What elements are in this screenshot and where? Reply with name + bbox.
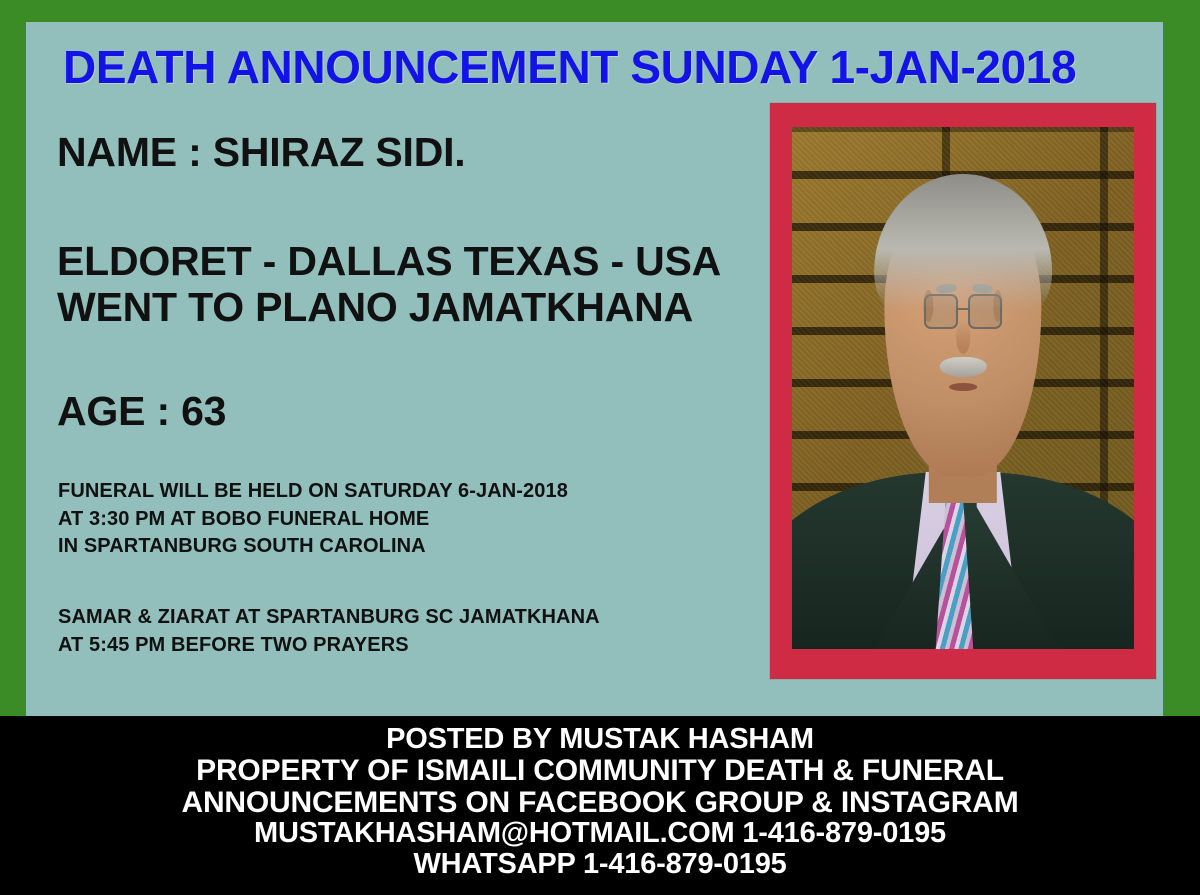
portrait-figure [792, 127, 1134, 649]
mouth [949, 383, 977, 391]
announcement-card: DEATH ANNOUNCEMENT SUNDAY 1-JAN-2018 NAM… [26, 22, 1163, 716]
page-title: DEATH ANNOUNCEMENT SUNDAY 1-JAN-2018 [63, 43, 1153, 91]
deceased-name-line: NAME : SHIRAZ SIDI. [57, 132, 465, 173]
jamatkhana-line: WENT TO PLANO JAMATKHANA [57, 287, 693, 328]
funeral-details-block: FUNERAL WILL BE HELD ON SATURDAY 6-JAN-2… [58, 478, 568, 561]
footer-property-line: PROPERTY OF ISMAILI COMMUNITY DEATH & FU… [0, 755, 1200, 787]
portrait-red-mount [770, 103, 1156, 679]
footer-whatsapp: WHATSAPP 1-416-879-0195 [0, 849, 1200, 880]
funeral-detail-line: FUNERAL WILL BE HELD ON SATURDAY 6-JAN-2… [58, 478, 568, 506]
footer-email-phone: MUSTAKHASHAM@HOTMAIL.COM 1-416-879-0195 [0, 818, 1200, 849]
footer-posted-by: POSTED BY MUSTAK HASHAM [0, 724, 1200, 755]
samar-detail-line: SAMAR & ZIARAT AT SPARTANBURG SC JAMATKH… [58, 604, 600, 632]
origin-location-line: ELDORET - DALLAS TEXAS - USA [57, 241, 721, 282]
poster-footer: POSTED BY MUSTAK HASHAM PROPERTY OF ISMA… [0, 716, 1200, 895]
moustache [939, 357, 986, 377]
samar-detail-line: AT 5:45 PM BEFORE TWO PRAYERS [58, 632, 600, 660]
portrait-photo [792, 127, 1134, 649]
funeral-detail-line: IN SPARTANBURG SOUTH CAROLINA [58, 533, 568, 561]
hair [874, 174, 1052, 310]
death-announcement-poster: DEATH ANNOUNCEMENT SUNDAY 1-JAN-2018 NAM… [0, 0, 1200, 895]
nose [956, 322, 970, 354]
age-line: AGE : 63 [57, 391, 226, 432]
footer-channels-line: ANNOUNCEMENTS ON FACEBOOK GROUP & INSTAG… [0, 787, 1200, 819]
funeral-detail-line: AT 3:30 PM AT BOBO FUNERAL HOME [58, 506, 568, 534]
samar-ziarat-block: SAMAR & ZIARAT AT SPARTANBURG SC JAMATKH… [58, 604, 600, 659]
